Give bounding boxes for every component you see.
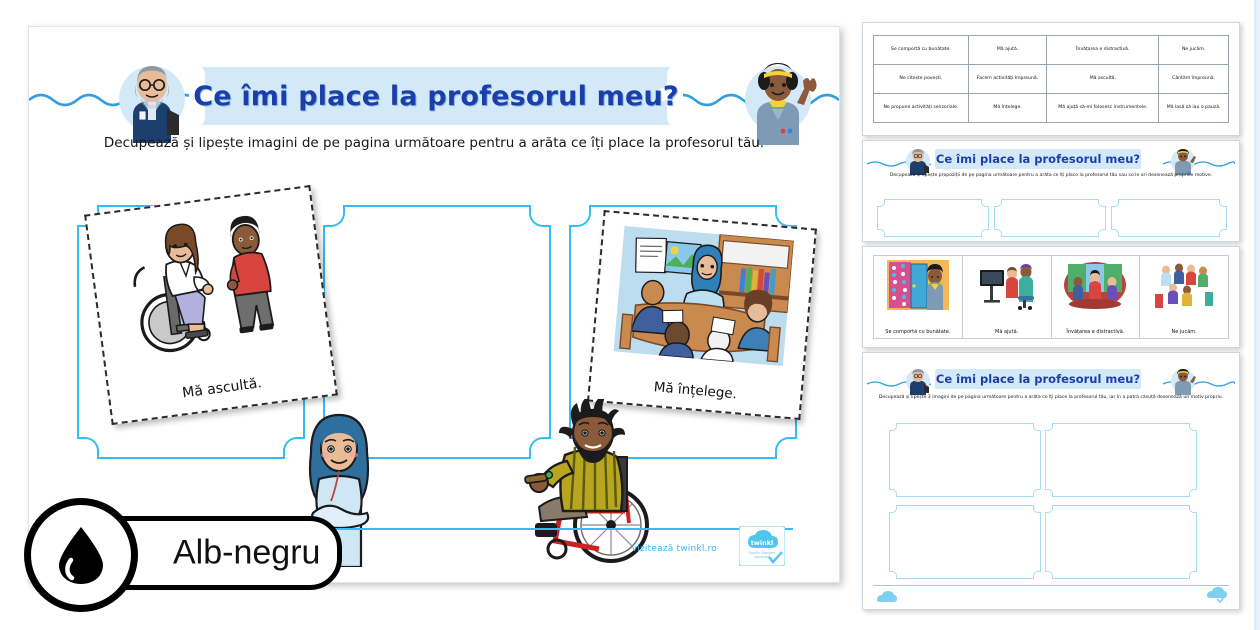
twinkl-cloud-logo [1205, 587, 1227, 603]
thumbnail-panel-picture-cards[interactable]: Se comportă cu bunătate. [862, 246, 1240, 348]
mini-answer-box[interactable] [889, 505, 1041, 579]
thumbnail-panel-four-boxes[interactable]: Ce îmi place la profesorul meu? [862, 352, 1240, 610]
table-cell: Ne propune activități senzoriale. [874, 94, 969, 123]
picture-card-label: Ne jucăm. [1172, 329, 1197, 335]
page-subtitle: Decupează și lipește imagini de pe pagin… [69, 135, 799, 151]
table-cell: Cântăm împreună. [1159, 65, 1229, 94]
table-cell: Învățarea e distractivă. [1047, 36, 1159, 65]
worksheet-header: Ce îmi place la profesorul meu? [29, 63, 839, 135]
table-row: Ne citește povești. Facem activități împ… [874, 65, 1229, 94]
table-cell: Facem activități împreună. [968, 65, 1047, 94]
table-cell: Ne citește povești. [874, 65, 969, 94]
picture-card-label: Mă ajută. [995, 329, 1018, 335]
table-cell: Ne jucăm. [1159, 36, 1229, 65]
mini-answer-box[interactable] [994, 199, 1106, 237]
mini-answer-box[interactable] [877, 199, 989, 237]
main-worksheet-preview[interactable]: Ce îmi place la profesorul meu? [28, 26, 840, 583]
table-row: Se comportă cu bunătate. Mă ajută. Învăț… [874, 36, 1229, 65]
cut-out-card-listening[interactable]: Mă ascultă. [84, 185, 338, 425]
illustration-helping-at-computer [976, 260, 1038, 310]
svg-text:twinkl: twinkl [751, 539, 774, 547]
picture-card-label: Se comportă cu bunătate. [885, 329, 950, 335]
table-cell: Mă ajută. [968, 36, 1047, 65]
illustration-children-playing [1153, 260, 1215, 310]
twinkl-cloud-logo [875, 589, 897, 603]
cut-out-card-understanding[interactable]: Mă înțelege. [587, 210, 817, 420]
mini-page-subtitle: Decupează și lipește propoziții de pe pa… [877, 173, 1225, 180]
footer-url[interactable]: vizitează twinkl.ro [632, 544, 717, 554]
mini-page-subtitle: Decupează și lipește 3 imagini de pe pag… [877, 395, 1225, 402]
mini-answer-box[interactable] [1111, 199, 1227, 237]
page-edge-shadow [1254, 0, 1260, 630]
badge-icon-circle [24, 498, 138, 612]
table-cell: Mă ascultă. [1047, 65, 1159, 94]
thumbnail-panel-sentence-table[interactable]: Se comportă cu bunătate. Mă ajută. Învăț… [862, 22, 1240, 136]
picture-card[interactable]: Mă ajută. [962, 255, 1051, 339]
table-cell: Mă lasă să iau o pauză. [1159, 94, 1229, 123]
mini-answer-box[interactable] [889, 423, 1041, 497]
badge-label: Alb-negru [173, 534, 320, 573]
footer-divider [873, 585, 1229, 586]
screenshot-stage: Ce îmi place la profesorul meu? [0, 0, 1260, 630]
picture-card[interactable]: Ne jucăm. [1139, 255, 1229, 339]
illustration-teacher-wheelchair-listening [113, 202, 304, 364]
picture-card[interactable]: Se comportă cu bunătate. [873, 255, 962, 339]
table-row: Ne propune activități senzoriale. Mă înț… [874, 94, 1229, 123]
ink-drop-icon [53, 524, 109, 586]
mini-header: Ce îmi place la profesorul meu? [863, 147, 1239, 173]
svg-text:Approved: Approved [754, 555, 769, 559]
mini-page-title: Ce îmi place la profesorul meu? [935, 149, 1141, 169]
illustration-teacher-at-door [887, 260, 949, 310]
mini-page-title: Ce îmi place la profesorul meu? [935, 369, 1141, 389]
illustration-teacher-group-table [613, 226, 793, 366]
character-bottom-right [521, 399, 671, 567]
mini-answer-box[interactable] [1045, 423, 1197, 497]
mini-header: Ce îmi place la profesorul meu? [863, 367, 1239, 393]
character-header-right [739, 57, 817, 145]
illustration-children-performing [1064, 260, 1126, 310]
table-cell: Mă ajută să-mi folosesc instrumentele. [1047, 94, 1159, 123]
thumbnail-panel-three-boxes[interactable]: Ce îmi place la profesorul meu? [862, 140, 1240, 242]
picture-card-label: Învățarea e distractivă. [1066, 329, 1124, 335]
table-cell: Mă înțelege. [968, 94, 1047, 123]
mini-answer-box[interactable] [1045, 505, 1197, 579]
picture-card[interactable]: Învățarea e distractivă. [1051, 255, 1140, 339]
picture-card-strip: Se comportă cu bunătate. [873, 255, 1229, 339]
twinkl-cloud-logo: twinkl Quality Standard Approved [739, 526, 785, 566]
character-header-left [117, 59, 187, 143]
table-cell: Se comportă cu bunătate. [874, 36, 969, 65]
sentence-table: Se comportă cu bunătate. Mă ajută. Învăț… [873, 35, 1229, 123]
thumbnail-column: Se comportă cu bunătate. Mă ajută. Învăț… [862, 22, 1252, 608]
page-title: Ce îmi place la profesorul meu? [197, 67, 675, 125]
